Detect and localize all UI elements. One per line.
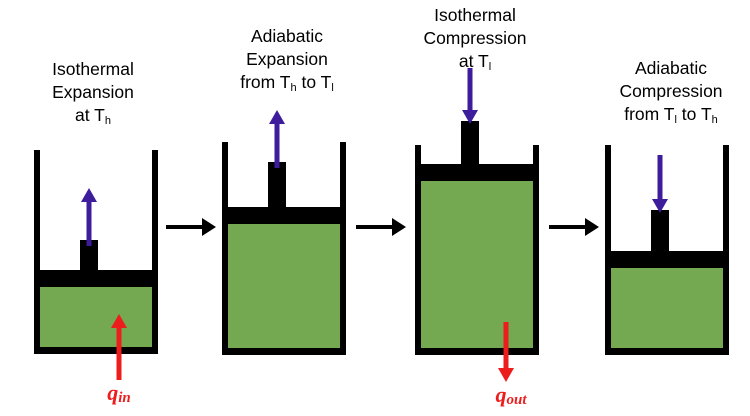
stage-3-heat-out-subscript: out (506, 392, 526, 408)
stage-3-heat-out-label: qout (476, 382, 546, 408)
stage-2-caption-line3: from Th to Tl (216, 71, 358, 94)
stage-1-caption: Isothermal Expansion at Th (34, 58, 152, 127)
stage-2-caption: Adiabatic Expansion from Th to Tl (216, 25, 358, 94)
stage-2-cylinder-wall-right (340, 142, 346, 355)
stage-1-caption-line1: Isothermal (34, 58, 152, 81)
stage-1-caption-line2: Expansion (34, 81, 152, 104)
stage-1-caption-line3: at Th (34, 104, 152, 127)
stage-1-temp-subscript: h (105, 115, 111, 127)
stage-4-gas-region (611, 268, 723, 348)
stage-3-piston-rod (461, 121, 479, 166)
stage-2-piston-head (224, 207, 344, 224)
stage-1-heat-in-subscript: in (118, 390, 131, 406)
process-arrow-3-to-4 (549, 217, 599, 237)
stage-2-caption-line1: Adiabatic (216, 25, 358, 48)
stage-2-cylinder-wall-left (222, 142, 228, 355)
stage-1-gas-region (40, 287, 152, 347)
stage-2-gas-region (228, 224, 340, 348)
stage-3-heat-out-arrow-icon (493, 322, 519, 382)
stage-4-cylinder-base (605, 348, 729, 355)
stage-1-heat-in-arrow-icon (106, 314, 132, 380)
stage-4-cylinder-wall-right (723, 145, 729, 355)
stage-4-temp-subscript-from: l (674, 114, 676, 126)
stage-3-caption-line2: Compression (400, 27, 550, 50)
stage-2-temp-subscript-from: h (290, 82, 296, 94)
carnot-cycle-figure: Isothermal Expansion at Th Adiabatic Exp… (0, 0, 750, 416)
stage-4-cylinder-wall-left (605, 145, 611, 355)
stage-3-cylinder-wall-left (415, 145, 421, 355)
process-arrow-2-to-3 (356, 217, 406, 237)
stage-3-caption-line1: Isothermal (400, 4, 550, 27)
stage-4-piston-head (607, 251, 727, 268)
process-arrow-1-to-2 (166, 217, 216, 237)
stage-4-temp-subscript-to: h (712, 114, 718, 126)
stage-2-caption-line2: Expansion (216, 48, 358, 71)
stage-4-caption-line1: Adiabatic (598, 57, 744, 80)
stage-1-cylinder-wall-left (34, 150, 40, 354)
stage-1-cylinder-base (34, 347, 158, 354)
stage-4-caption-line3: from Tl to Th (598, 103, 744, 126)
stage-2-work-arrow-icon (264, 110, 290, 168)
stage-2-cylinder-base (222, 348, 346, 355)
stage-2-temp-subscript-to: l (331, 82, 333, 94)
stage-2-piston-rod (268, 162, 286, 209)
stage-3-cylinder-wall-right (533, 145, 539, 355)
stage-1-heat-in-symbol: q (107, 380, 118, 405)
stage-1-work-arrow-icon (76, 188, 102, 246)
stage-4-piston-rod (651, 210, 669, 253)
stage-1-piston-head (36, 270, 156, 287)
stage-3-caption: Isothermal Compression at Tl (400, 4, 550, 73)
stage-3-temp-subscript: l (489, 61, 491, 73)
stage-3-cylinder-base (415, 348, 539, 355)
stage-1-cylinder-wall-right (152, 150, 158, 354)
stage-4-caption: Adiabatic Compression from Tl to Th (598, 57, 744, 126)
stage-1-heat-in-label: qin (89, 380, 149, 406)
stage-3-work-arrow-icon (457, 68, 483, 124)
stage-3-heat-out-symbol: q (495, 382, 506, 407)
stage-3-piston-head (417, 164, 537, 181)
stage-4-caption-line2: Compression (598, 80, 744, 103)
stage-4-work-arrow-icon (647, 155, 673, 213)
